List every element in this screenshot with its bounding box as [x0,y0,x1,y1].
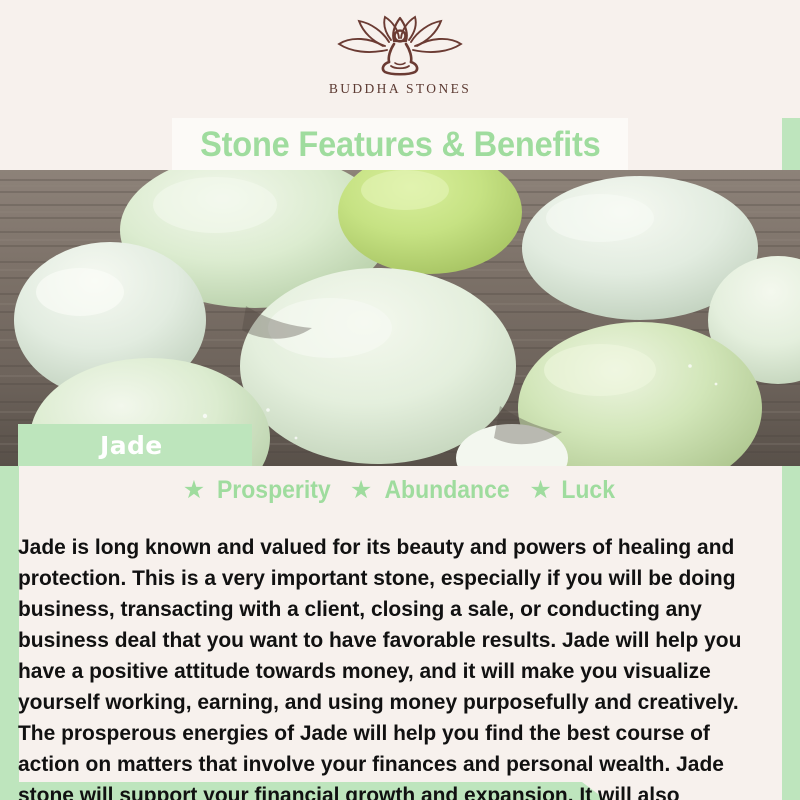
benefit-label: Luck [561,478,615,503]
page-title: Stone Features & Benefits [200,127,601,162]
decorative-band-right-lower [782,470,800,800]
star-icon: ★ [529,478,551,503]
benefits-row: ★ Prosperity ★ Abundance ★ Luck [0,478,800,503]
star-icon: ★ [350,478,372,503]
decorative-band-left-lower [0,420,19,782]
stone-description: Jade is long known and valued for its be… [18,532,763,800]
infographic-card: BUDDHA STONES Stone Features & Benefits [0,0,800,800]
brand-header: BUDDHA STONES [0,0,800,118]
brand-name: BUDDHA STONES [329,81,471,97]
stone-name-label: Jade [100,431,163,460]
benefit-item-abundance: ★ Abundance [350,478,516,503]
lotus-meditation-icon [325,14,475,76]
title-band: Stone Features & Benefits [172,118,628,170]
stone-name-banner: Jade [18,424,252,466]
benefit-label: Prosperity [217,478,331,503]
benefit-label: Abundance [385,478,510,503]
benefit-item-luck: ★ Luck [529,478,617,503]
benefit-item-prosperity: ★ Prosperity [183,478,336,503]
jade-stones-photo [0,170,800,466]
star-icon: ★ [183,478,205,503]
